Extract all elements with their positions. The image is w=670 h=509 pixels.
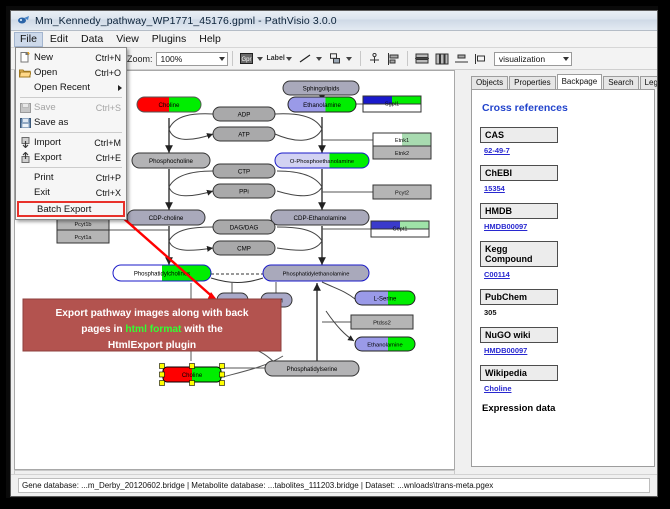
xref-db-chebi: ChEBI [480, 165, 558, 181]
node-sphingolipids: Sphingolipids [283, 81, 359, 95]
visualization-combo[interactable]: visualization [494, 52, 572, 66]
menu-item-exit-accel: Ctrl+X [96, 188, 126, 198]
menu-item-open-recent-label: Open Recent [34, 82, 126, 93]
node-label-choline: Choline [159, 102, 181, 109]
xref-link-nugo[interactable]: HMDB00097 [484, 346, 527, 355]
tab-properties[interactable]: Properties [509, 76, 555, 89]
annotation-line-3: HtmlExport plugin [108, 340, 196, 351]
menu-help[interactable]: Help [193, 32, 227, 47]
expression-data-heading: Expression data [482, 403, 646, 414]
node-label-pcyt1a: Pcyt1a [74, 235, 92, 241]
menu-item-save-as[interactable]: Save as [16, 115, 126, 130]
side-panel-tabs[interactable]: Objects Properties Backpage Search Legen… [471, 74, 657, 89]
zoom-label: Zoom: [127, 54, 153, 64]
node-choline-selected: Choline [160, 364, 225, 386]
node-label-phosphocholine: Phosphocholine [149, 158, 194, 165]
annotation-line-2-post: with the [181, 324, 223, 335]
node-label-etnk1: Etnk1 [395, 138, 409, 144]
zoom-combo[interactable]: 100% [156, 52, 228, 66]
geneproduct-tool-button[interactable]: Gpr [238, 51, 255, 67]
backpage-panel[interactable]: Cross references CAS 62-49-7 ChEBI 15354… [471, 89, 655, 467]
xref-value-pubchem: 305 [484, 308, 646, 317]
node-ppi: PPi [213, 184, 275, 198]
menu-item-open[interactable]: Open Ctrl+O [16, 65, 126, 80]
node-phosphatidylserine: Phosphatidylserine [265, 361, 359, 376]
stack-tool-button[interactable] [453, 51, 470, 67]
node-pcyt2: Pcyt2 [373, 185, 431, 199]
toolbar-divider-2 [360, 51, 361, 66]
node-phosphocholine: Phosphocholine [132, 153, 210, 168]
node-dag: DAG/DAG [213, 220, 275, 234]
xref-link-hmdb[interactable]: HMDB00097 [484, 222, 527, 231]
xref-value-cas[interactable]: 62-49-7 [484, 146, 646, 155]
node-label-ptdss2: Ptdss2 [373, 321, 391, 327]
node-label-ppi: PPi [239, 189, 249, 196]
zoom-value: 100% [161, 54, 183, 64]
node-ctp: CTP [213, 164, 275, 178]
align-center-tool-button[interactable] [413, 51, 431, 67]
status-text: Gene database: ...m_Derby_20120602.bridg… [19, 481, 493, 490]
menu-edit[interactable]: Edit [44, 32, 74, 47]
menu-item-save: Save Ctrl+S [16, 100, 126, 115]
menu-item-new-accel: Ctrl+N [95, 53, 126, 63]
xref-db-wikipedia: Wikipedia [480, 365, 558, 381]
menu-item-print-label: Print [34, 172, 96, 183]
import-icon [16, 137, 34, 148]
node-label-etnk2: Etnk2 [395, 151, 409, 157]
node-label-ctp: CTP [238, 169, 250, 176]
cross-references-heading: Cross references [482, 102, 646, 114]
save-icon [16, 103, 34, 113]
xref-link-cas[interactable]: 62-49-7 [484, 146, 510, 155]
screenshot-frame: Mm_Kennedy_pathway_WP1771_45176.gpml - P… [0, 0, 670, 509]
node-label-cdp-ethanolamine: CDP-Ethanolamine [294, 215, 348, 222]
annotation-line-2-em: html format [125, 324, 182, 335]
menu-divider-1 [20, 97, 122, 98]
node-ethanolamine-2: Ethanolamine [355, 337, 415, 351]
file-menu-dropdown[interactable]: New Ctrl+N Open Ctrl+O Open Recent Save … [15, 47, 127, 220]
node-phosphatidylcholines: Phosphatidylcholines [113, 265, 211, 281]
menu-item-export-accel: Ctrl+E [96, 153, 126, 163]
tab-legend[interactable]: Legend [640, 76, 658, 89]
node-label-dag: DAG/DAG [230, 225, 259, 232]
menu-item-save-as-label: Save as [34, 117, 121, 128]
anchor-tool-button[interactable] [366, 51, 383, 67]
export-icon [16, 152, 34, 163]
xref-db-pubchem: PubChem [480, 289, 558, 305]
node-pcyt1a: Pcyt1a [57, 230, 109, 243]
node-choline: Choline [137, 97, 201, 112]
menu-item-save-accel: Ctrl+S [96, 103, 126, 113]
label-dropdown-icon[interactable] [286, 57, 292, 61]
node-cdp-ethanolamine: CDP-Ethanolamine [271, 210, 369, 225]
annotation-line-2-pre: pages in [81, 324, 125, 335]
menu-item-open-label: Open [34, 67, 95, 78]
xref-value-nugo[interactable]: HMDB00097 [484, 346, 646, 355]
menu-plugins[interactable]: Plugins [146, 32, 192, 47]
menu-item-open-recent[interactable]: Open Recent [16, 80, 126, 95]
pathvisio-app-icon [17, 14, 30, 27]
menu-item-print[interactable]: Print Ctrl+P [16, 170, 126, 185]
xref-db-hmdb: HMDB [480, 203, 558, 219]
node-label-ethanolamine-2: Ethanolamine [367, 343, 402, 349]
menu-item-new[interactable]: New Ctrl+N [16, 50, 126, 65]
pathvisio-window: Mm_Kennedy_pathway_WP1771_45176.gpml - P… [10, 10, 658, 497]
save-as-icon [16, 118, 34, 128]
menu-item-exit-label: Exit [34, 187, 96, 198]
menu-data[interactable]: Data [75, 32, 109, 47]
chevron-down-icon [219, 57, 225, 61]
menu-view[interactable]: View [110, 32, 145, 47]
node-label-o-phosphoethanolamine: O-Phosphoethanolamine [290, 159, 354, 165]
node-label-phosphatidylserine: Phosphatidylserine [287, 367, 338, 373]
node-label-ethanolamine-1: Ethanolamine [303, 102, 341, 109]
node-etnk1: Etnk1 [373, 133, 431, 146]
node-label-choline-selected: Choline [182, 373, 203, 379]
menu-bar[interactable]: File Edit Data View Plugins Help [11, 31, 657, 48]
geneproduct-dropdown-icon[interactable] [257, 57, 263, 61]
menu-item-import-label: Import [34, 137, 94, 148]
node-sgpl1: Sgpl1 [363, 96, 421, 112]
menu-divider-2 [20, 132, 122, 133]
xref-value-wikipedia[interactable]: Choline [484, 384, 646, 393]
node-label-cmp: CMP [237, 246, 251, 253]
node-label-pcyt1b: Pcyt1b [74, 222, 91, 228]
label-tool-button[interactable]: Label [267, 55, 285, 62]
xref-db-nugo: NuGO wiki [480, 327, 558, 343]
common-size-tool-button[interactable] [472, 51, 489, 67]
svg-text:pages in html format with the: pages in html format with the [81, 324, 223, 335]
node-label-cdp-choline: CDP-choline [149, 215, 184, 222]
node-label-atp: ATP [238, 132, 250, 139]
node-label-phosphatidylethanolamine: Phosphatidylethanolamine [283, 272, 350, 278]
node-label-l-serine: L-Serine [374, 297, 397, 303]
node-label-sphingolipids: Sphingolipids [303, 86, 340, 93]
menu-item-exit[interactable]: Exit Ctrl+X [16, 185, 126, 200]
chevron-right-icon [118, 85, 122, 91]
tab-backpage[interactable]: Backpage [557, 74, 603, 89]
menu-item-export[interactable]: Export Ctrl+E [16, 150, 126, 165]
node-label-adp: ADP [238, 112, 251, 119]
menu-item-import[interactable]: Import Ctrl+M [16, 135, 126, 150]
menu-divider-3 [20, 167, 122, 168]
node-ptdss2: Ptdss2 [351, 315, 413, 329]
menu-item-export-label: Export [34, 152, 96, 163]
node-ethanolamine-1: Ethanolamine [288, 97, 356, 112]
toolbar-divider [232, 51, 233, 66]
menu-item-batch-export[interactable]: Batch Export [17, 201, 125, 217]
node-phosphatidylethanolamine: Phosphatidylethanolamine [263, 265, 369, 281]
menu-item-new-label: New [34, 52, 95, 63]
tab-objects[interactable]: Objects [471, 76, 508, 89]
node-label-phosphatidylcholines: Phosphatidylcholines [134, 272, 190, 278]
menu-item-batch-export-label: Batch Export [37, 204, 123, 215]
menu-item-import-accel: Ctrl+M [94, 138, 126, 148]
shape-dropdown-icon[interactable] [346, 57, 352, 61]
line-dropdown-icon[interactable] [316, 57, 322, 61]
node-adp: ADP [213, 107, 275, 121]
menu-item-print-accel: Ctrl+P [96, 173, 126, 183]
chevron-down-icon-2 [563, 57, 569, 61]
open-folder-icon [16, 68, 34, 78]
menu-item-save-label: Save [34, 102, 96, 113]
align-left-tool-button[interactable] [385, 51, 402, 67]
window-title: Mm_Kennedy_pathway_WP1771_45176.gpml - P… [35, 15, 337, 27]
node-label-cept1: Cept1 [393, 227, 408, 233]
node-atp: ATP [213, 127, 275, 141]
xref-value-chebi[interactable]: 15354 [484, 184, 646, 193]
shape-tool-button[interactable] [327, 51, 344, 67]
xref-link-kegg[interactable]: C00114 [484, 270, 510, 279]
xref-link-wikipedia[interactable]: Choline [484, 384, 512, 393]
new-file-icon [16, 52, 34, 63]
node-cmp: CMP [213, 241, 275, 255]
node-l-serine: L-Serine [355, 291, 415, 305]
xref-value-kegg[interactable]: C00114 [484, 270, 646, 279]
node-etnk2: Etnk2 [373, 146, 431, 159]
svg-text:Gpr: Gpr [241, 57, 251, 63]
annotation-callout: Export pathway images along with back pa… [23, 299, 281, 351]
xref-value-hmdb[interactable]: HMDB00097 [484, 222, 646, 231]
visualization-value: visualization [499, 54, 545, 64]
title-bar: Mm_Kennedy_pathway_WP1771_45176.gpml - P… [11, 11, 657, 31]
node-cept1: Cept1 [371, 221, 429, 237]
tab-search[interactable]: Search [603, 76, 638, 89]
annotation-line-1: Export pathway images along with back [55, 308, 248, 319]
menu-item-open-accel: Ctrl+O [95, 68, 126, 78]
xref-db-kegg: Kegg Compound [480, 241, 558, 267]
xref-link-chebi[interactable]: 15354 [484, 184, 505, 193]
node-label-pcyt2: Pcyt2 [395, 191, 409, 197]
node-label-sgpl1: Sgpl1 [385, 102, 399, 108]
xref-db-cas: CAS [480, 127, 558, 143]
side-panel: Objects Properties Backpage Search Legen… [463, 70, 658, 476]
status-bar-inner: Gene database: ...m_Derby_20120602.bridg… [18, 478, 650, 493]
menu-file[interactable]: File [14, 32, 43, 47]
toolbar-divider-3 [407, 51, 408, 66]
line-tool-button[interactable] [297, 51, 314, 67]
node-o-phosphoethanolamine: O-Phosphoethanolamine [275, 153, 369, 168]
node-cdp-choline: CDP-choline [127, 210, 205, 225]
align-middle-tool-button[interactable] [433, 51, 451, 67]
status-bar: Gene database: ...m_Derby_20120602.bridg… [11, 474, 657, 496]
